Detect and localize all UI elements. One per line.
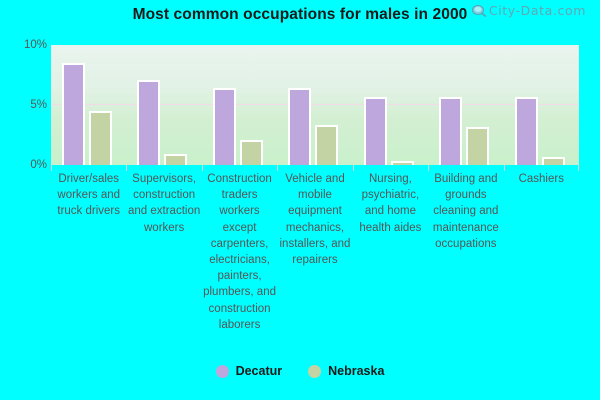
legend-swatch <box>216 365 229 378</box>
x-axis-label: Vehicle and mobile equipment mechanics, … <box>277 171 352 268</box>
watermark: City-Data.com <box>472 3 586 18</box>
bar-nebraska[interactable] <box>240 140 263 165</box>
x-axis-label: Nursing, psychiatric, and home health ai… <box>353 171 428 236</box>
bar-group <box>277 45 352 165</box>
magnifier-icon <box>472 4 487 17</box>
legend-label: Decatur <box>236 364 283 378</box>
bar-nebraska[interactable] <box>466 127 489 165</box>
y-tick-label: 10% <box>0 39 47 51</box>
bar-nebraska[interactable] <box>89 111 112 165</box>
legend-label: Nebraska <box>328 364 384 378</box>
bars-layer <box>51 45 579 165</box>
chart-legend: DecaturNebraska <box>0 364 600 378</box>
y-tick-label: 5% <box>0 99 47 111</box>
x-axis-label: Driver/sales workers and truck drivers <box>51 171 126 220</box>
bar-group <box>51 45 126 165</box>
bar-nebraska[interactable] <box>164 154 187 165</box>
legend-item[interactable]: Nebraska <box>308 364 384 378</box>
bar-decatur[interactable] <box>515 97 538 165</box>
watermark-text: City-Data.com <box>489 3 586 18</box>
bar-decatur[interactable] <box>62 63 85 165</box>
bar-nebraska[interactable] <box>542 157 565 165</box>
bar-nebraska[interactable] <box>315 125 338 165</box>
bar-decatur[interactable] <box>439 97 462 165</box>
x-axis-labels: Driver/sales workers and truck driversSu… <box>51 171 579 351</box>
bar-group <box>202 45 277 165</box>
legend-swatch <box>308 365 321 378</box>
bar-group <box>428 45 503 165</box>
x-axis-label: Cashiers <box>504 171 579 187</box>
bar-decatur[interactable] <box>364 97 387 165</box>
x-axis-label: Construction traders workers except carp… <box>202 171 277 333</box>
legend-item[interactable]: Decatur <box>216 364 283 378</box>
x-axis-label: Building and grounds cleaning and mainte… <box>428 171 503 252</box>
bar-decatur[interactable] <box>137 80 160 165</box>
bar-decatur[interactable] <box>288 88 311 165</box>
bar-group <box>353 45 428 165</box>
x-axis-label: Supervisors, construction and extraction… <box>126 171 201 236</box>
y-axis: 0%5%10% <box>0 45 47 165</box>
bar-group <box>126 45 201 165</box>
bar-group <box>504 45 579 165</box>
y-tick-label: 0% <box>0 159 47 171</box>
bar-decatur[interactable] <box>213 88 236 165</box>
